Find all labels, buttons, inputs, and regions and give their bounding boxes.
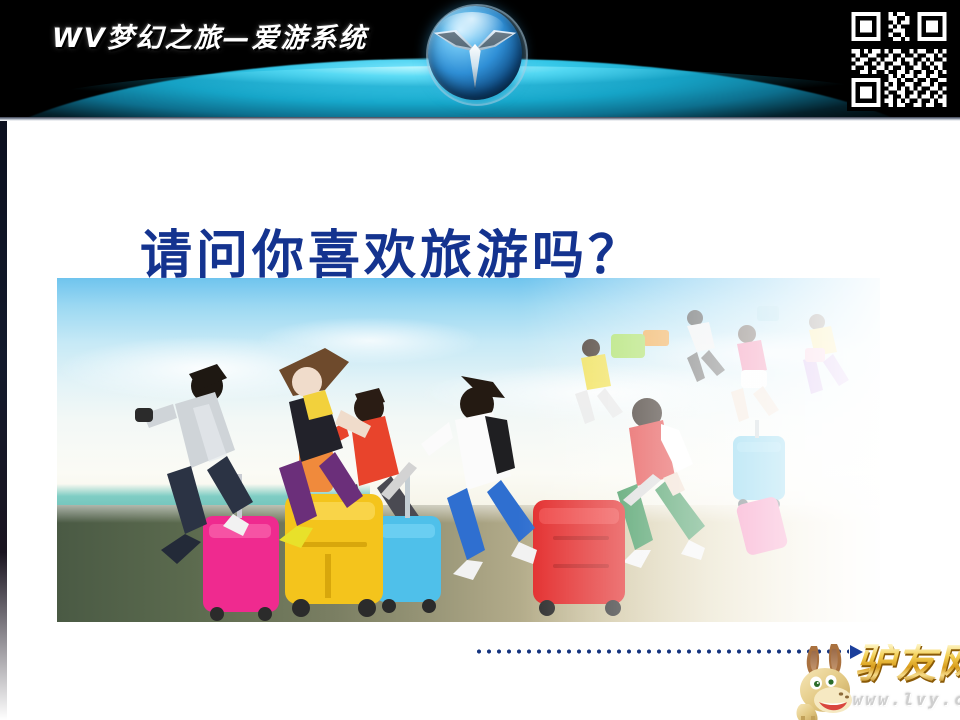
travelers-running-photo [57,278,880,622]
left-edge-strip [0,121,7,720]
slide-content: 请问你喜欢旅游吗？ [7,121,960,720]
presentation-slide: WV梦幻之旅—爱游系统 [0,0,960,720]
header-title: WV梦幻之旅—爱游系统 [52,16,368,55]
photo-haze-overlay [518,278,880,622]
wv-wing-icon [428,23,522,93]
qr-code [847,8,951,111]
page-title: 请问你喜欢旅游吗？ [140,213,644,288]
lvy-brand-name: 驴友网 [855,644,960,684]
lvy-brand-logo[interactable]: 驴友网 www.lvy.cn [793,638,960,720]
lvy-url: www.lvy.cn [853,690,960,709]
wv-orb-logo [428,6,522,100]
qr-code-icon [847,8,951,111]
